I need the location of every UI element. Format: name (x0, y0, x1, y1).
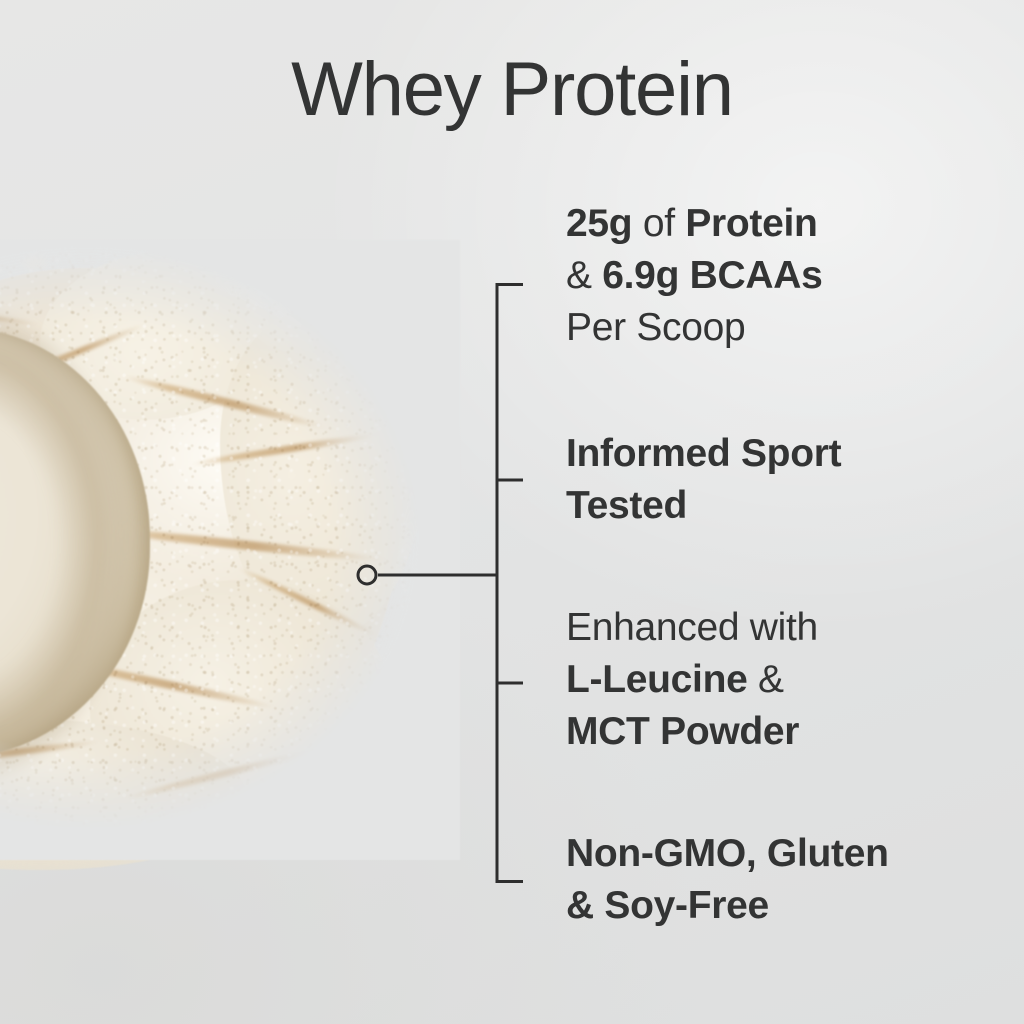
callout-text-regular: Enhanced with (566, 606, 818, 649)
callout-line: & Soy-Free (566, 880, 996, 932)
callout-text-bold: MCT Powder (566, 710, 799, 753)
callout-text-regular: & (566, 254, 602, 297)
callout-text-bold: Non-GMO, Gluten (566, 832, 889, 875)
callout-line: MCT Powder (566, 706, 996, 758)
callout-line: Non-GMO, Gluten (566, 828, 996, 880)
callout-text-bold: 6.9g BCAAs (602, 254, 822, 297)
callout-text-bold: 25g (566, 202, 632, 245)
callout-text-bold: & Soy-Free (566, 884, 769, 927)
callout-text-bold: L-Leucine (566, 658, 747, 701)
callout-line: Enhanced with (566, 602, 996, 654)
callout-line: Informed Sport (566, 428, 996, 480)
callout-text-bold: Informed Sport (566, 432, 841, 475)
infographic-canvas: Whey Protein 25g of Protein& 6.9g BCAAsP… (0, 0, 1024, 1024)
callout-line: L-Leucine & (566, 654, 996, 706)
callout-line: & 6.9g BCAAs (566, 250, 996, 302)
callout-text-regular: of (632, 202, 685, 245)
callout-non-gmo: Non-GMO, Gluten& Soy-Free (566, 828, 996, 932)
callout-line: Tested (566, 480, 996, 532)
callout-informed-sport: Informed SportTested (566, 428, 996, 532)
callout-line: Per Scoop (566, 302, 996, 354)
callout-line: 25g of Protein (566, 198, 996, 250)
callout-list: 25g of Protein& 6.9g BCAAsPer Scoop Info… (566, 0, 1006, 1024)
callout-text-bold: Tested (566, 484, 687, 527)
callout-protein-bcaa: 25g of Protein& 6.9g BCAAsPer Scoop (566, 198, 996, 354)
protein-powder-photo (0, 250, 450, 850)
callout-text-bold: Protein (685, 202, 817, 245)
powder-speck (22, 252, 48, 272)
callout-text-regular: & (747, 658, 783, 701)
powder-pile (0, 250, 450, 850)
callout-text-regular: Per Scoop (566, 306, 745, 349)
callout-enhanced-with: Enhanced withL-Leucine &MCT Powder (566, 602, 996, 758)
